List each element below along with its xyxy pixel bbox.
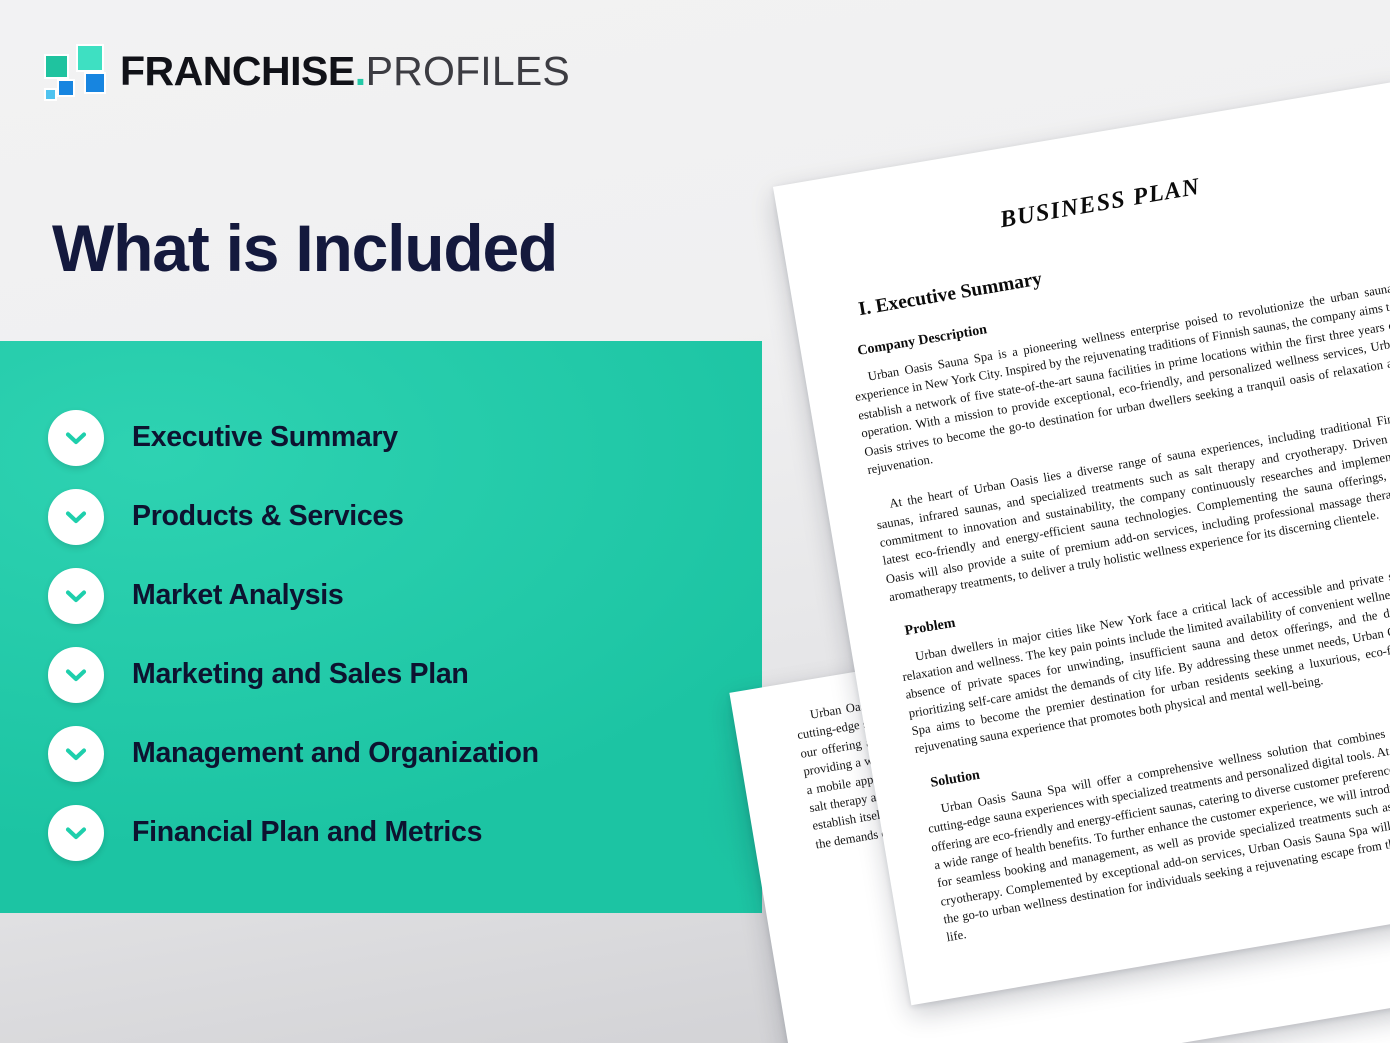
- chevron-down-icon: [48, 726, 104, 782]
- chevron-down-icon: [48, 489, 104, 545]
- brand-name-bold: FRANCHISE: [120, 51, 355, 92]
- included-feature-list: Executive Summary Products & Services Ma…: [0, 341, 762, 913]
- chevron-down-icon: [48, 647, 104, 703]
- list-item-label: Executive Summary: [132, 423, 398, 452]
- brand-name-light: PROFILES: [366, 51, 570, 92]
- chevron-down-icon: [48, 568, 104, 624]
- list-item[interactable]: Financial Plan and Metrics: [48, 793, 762, 872]
- list-item-label: Market Analysis: [132, 581, 343, 610]
- brand-logo[interactable]: FRANCHISE . PROFILES: [44, 44, 570, 98]
- brand-wordmark: FRANCHISE . PROFILES: [120, 51, 570, 92]
- logo-square-blue: [84, 72, 106, 94]
- list-item[interactable]: Management and Organization: [48, 714, 762, 793]
- logo-square-cyan: [44, 88, 57, 101]
- logo-square-blue-small: [57, 79, 75, 97]
- slide-root: FRANCHISE . PROFILES What is Included Ex…: [0, 0, 1390, 1043]
- list-item-label: Marketing and Sales Plan: [132, 660, 469, 689]
- list-item[interactable]: Marketing and Sales Plan: [48, 635, 762, 714]
- business-plan-document-stack: Complemented by exceptional add-on servi…: [690, 120, 1390, 1043]
- list-item-label: Financial Plan and Metrics: [132, 818, 482, 847]
- list-item[interactable]: Products & Services: [48, 477, 762, 556]
- list-item[interactable]: Executive Summary: [48, 398, 762, 477]
- chevron-down-icon: [48, 410, 104, 466]
- brand-name-dot: .: [355, 51, 366, 92]
- franchise-profiles-logo-mark: [44, 44, 104, 98]
- list-item-label: Products & Services: [132, 502, 404, 531]
- list-item-label: Management and Organization: [132, 739, 539, 768]
- page-title: What is Included: [52, 214, 557, 283]
- list-item[interactable]: Market Analysis: [48, 556, 762, 635]
- logo-square-teal-dark: [44, 54, 69, 79]
- logo-square-teal-light: [76, 44, 104, 72]
- chevron-down-icon: [48, 805, 104, 861]
